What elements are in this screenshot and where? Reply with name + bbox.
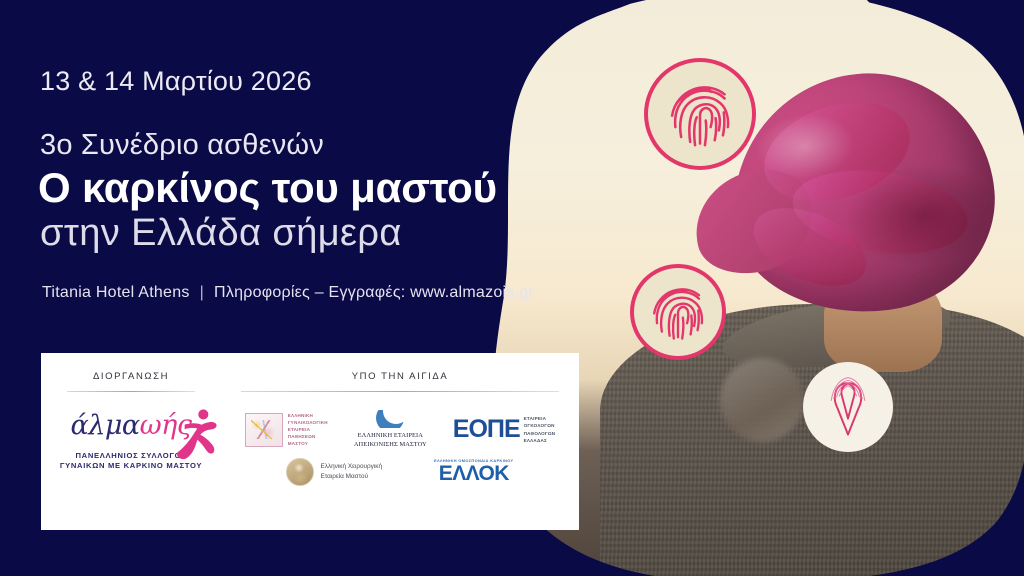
awareness-ribbon-icon (819, 376, 877, 438)
organizer-rule (67, 391, 195, 392)
page-title: Ο καρκίνος του μαστού (38, 164, 497, 212)
egem-line-3: ΕΤΑΙΡΕΙΑ (288, 426, 328, 433)
venue-and-info-line: Titania Hotel Athens|Πληροφορίες – Εγγρα… (42, 284, 534, 302)
egem-line-4: ΠΑΘΗΣΕΩΝ (288, 433, 328, 440)
logo-eope[interactable]: ΕΟΠΕ ΕΤΑΙΡΕΙΑ ΟΓΚΟΛΟΓΩΝ ΠΑΘΟΛΟΓΩΝ ΕΛΛΑΔΑ… (453, 415, 555, 444)
fingerprint-badge-top (648, 62, 752, 166)
egem-emblem-icon (245, 413, 283, 447)
organizer-column: ΔΙΟΡΓΑΝΩΣΗ άλμαωής ΠΑΝΕΛΛΗΝΙΟΣ ΣΥΛΛΟΓΟΣ … (41, 353, 221, 530)
eope-wordmark: ΕΟΠΕ (453, 417, 520, 442)
fingerprint-badge-lower (634, 268, 722, 356)
alma-zois-wordmark: άλμαωής (71, 412, 192, 439)
eope-label: ΕΤΑΙΡΕΙΑ ΟΓΚΟΛΟΓΩΝ ΠΑΘΟΛΟΓΩΝ ΕΛΛΑΔΑΣ (524, 415, 556, 444)
egem-line-5: ΜΑΣΤΟΥ (288, 440, 328, 447)
exem-line-1: Ελληνική Χειρουργική (320, 462, 382, 472)
egem-label: ΕΛΛΗΝΙΚΗ ΓΥΝΑΙΚΟΛΟΓΙΚΗ ΕΤΑΙΡΕΙΑ ΠΑΘΗΣΕΩΝ… (288, 412, 328, 448)
logo-eeam[interactable]: ΕΛΛΗΝΙΚΗ ΕΤΑΙΡΕΙΑ ΑΠΕΙΚΟΝΙΣΗΣ ΜΑΣΤΟΥ (354, 410, 427, 450)
venue-separator: | (190, 284, 214, 301)
blurred-grey-circle (720, 358, 804, 442)
eope-line-2: ΟΓΚΟΛΟΓΩΝ (524, 422, 556, 429)
eope-line-4: ΕΛΛΑΔΑΣ (524, 437, 556, 444)
exem-label: Ελληνική Χειρουργική Εταιρεία Μαστού (320, 462, 382, 481)
fingerprint-icon (659, 73, 741, 155)
auspices-logo-row-1: ΕΛΛΗΝΙΚΗ ΓΥΝΑΙΚΟΛΟΓΙΚΗ ΕΤΑΙΡΕΙΑ ΠΑΘΗΣΕΩΝ… (221, 410, 579, 450)
ellok-wordmark: ΕΛΛΟΚ (434, 463, 513, 485)
eope-line-1: ΕΤΑΙΡΕΙΑ (524, 415, 556, 422)
eope-line-3: ΠΑΘΟΛΟΓΩΝ (524, 430, 556, 437)
alma-sub-line2: ΓΥΝΑΙΚΩΝ ΜΕ ΚΑΡΚΙΝΟ ΜΑΣΤΟΥ (41, 461, 221, 471)
alma-zois-logo[interactable]: άλμαωής ΠΑΝΕΛΛΗΝΙΟΣ ΣΥΛΛΟΓΟΣ ΓΥΝΑΙΚΩΝ ΜΕ… (41, 412, 221, 510)
logo-egem[interactable]: ΕΛΛΗΝΙΚΗ ΓΥΝΑΙΚΟΛΟΓΙΚΗ ΕΤΑΙΡΕΙΑ ΠΑΘΗΣΕΩΝ… (245, 412, 328, 448)
crescent-icon (376, 410, 404, 428)
event-subtitle: στην Ελλάδα σήμερα (40, 212, 402, 255)
registration-info[interactable]: Πληροφορίες – Εγγραφές: www.almazois.gr (214, 284, 534, 301)
egem-line-1: ΕΛΛΗΝΙΚΗ (288, 412, 328, 419)
auspices-column: ΥΠΟ ΤΗΝ ΑΙΓΙΔΑ ΕΛΛΗΝΙΚΗ ΓΥΝΑΙΚΟΛΟΓΙΚΗ ΕΤ… (221, 353, 579, 530)
venue-name: Titania Hotel Athens (42, 284, 190, 301)
sponsor-panel: ΔΙΟΡΓΑΝΩΣΗ άλμαωής ΠΑΝΕΛΛΗΝΙΟΣ ΣΥΛΛΟΓΟΣ … (41, 353, 579, 530)
poster-canvas: 13 & 14 Μαρτίου 2026 3ο Συνέδριο ασθενών… (0, 0, 1024, 576)
portrait-medallion-icon (286, 458, 314, 486)
logo-ellok[interactable]: ΕΛΛΗΝΙΚΗ ΟΜΟΣΠΟΝΔΙΑ ΚΑΡΚΙΝΟΥ ΕΛΛΟΚ (434, 458, 513, 485)
egem-line-2: ΓΥΝΑΙΚΟΛΟΓΙΚΗ (288, 419, 328, 426)
organizer-heading: ΔΙΟΡΓΑΝΩΣΗ (41, 371, 221, 382)
event-date: 13 & 14 Μαρτίου 2026 (40, 66, 312, 97)
eeam-label: ΕΛΛΗΝΙΚΗ ΕΤΑΙΡΕΙΑ ΑΠΕΙΚΟΝΙΣΗΣ ΜΑΣΤΟΥ (354, 431, 427, 450)
ribbon-badge (803, 362, 893, 452)
fingerprint-icon (643, 277, 713, 347)
auspices-rule (241, 391, 559, 392)
logo-exem[interactable]: Ελληνική Χειρουργική Εταιρεία Μαστού (286, 458, 382, 486)
alma-word-alma: άλμα (71, 410, 140, 441)
auspices-logo-row-2: Ελληνική Χειρουργική Εταιρεία Μαστού ΕΛΛ… (221, 458, 579, 486)
event-kicker: 3ο Συνέδριο ασθενών (40, 129, 324, 162)
eeam-line-2: ΑΠΕΙΚΟΝΙΣΗΣ ΜΑΣΤΟΥ (354, 440, 427, 449)
exem-line-2: Εταιρεία Μαστού (320, 472, 382, 482)
auspices-heading: ΥΠΟ ΤΗΝ ΑΙΓΙΔΑ (221, 371, 579, 382)
eeam-line-1: ΕΛΛΗΝΙΚΗ ΕΤΑΙΡΕΙΑ (354, 431, 427, 440)
runner-figure-icon (166, 406, 222, 462)
